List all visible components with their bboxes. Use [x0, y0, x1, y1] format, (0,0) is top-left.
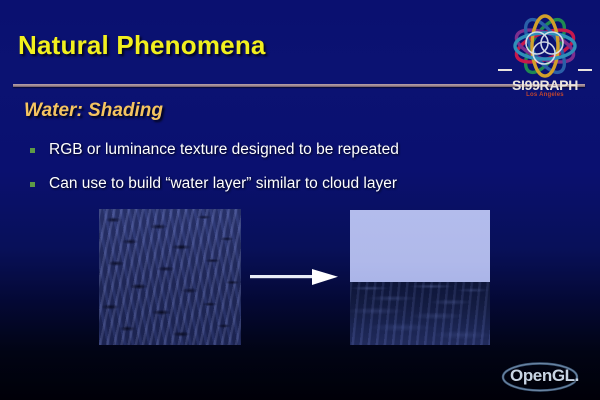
list-item-label: RGB or luminance texture designed to be …	[49, 140, 399, 160]
slide-canvas: Natural Phenomena Water: Shading RGB or …	[0, 0, 600, 400]
bullet-square-icon	[30, 182, 35, 187]
opengl-wordmark-text: OpenGL	[510, 366, 575, 385]
siggraph-logo: SI99RAPH Los Angeles	[496, 12, 594, 104]
list-item-label: Can use to build “water layer” similar t…	[49, 174, 397, 194]
scene-water	[350, 282, 490, 345]
opengl-wordmark: OpenGL.	[510, 366, 579, 386]
section-subtitle: Water: Shading	[24, 100, 163, 122]
list-item: RGB or luminance texture designed to be …	[30, 140, 560, 160]
bullet-list: RGB or luminance texture designed to be …	[30, 140, 560, 208]
opengl-dot: .	[575, 366, 579, 385]
opengl-logo: OpenGL.	[500, 360, 596, 394]
right-arrow-icon	[250, 268, 340, 286]
list-item: Can use to build “water layer” similar t…	[30, 174, 560, 194]
rendered-ocean-image	[350, 210, 490, 345]
siggraph-location: Los Angeles	[496, 92, 594, 98]
bullet-square-icon	[30, 148, 35, 153]
water-texture-image	[99, 209, 241, 345]
page-title: Natural Phenomena	[18, 30, 266, 61]
siggraph-wordmark: SI99RAPH	[496, 78, 594, 92]
scene-sky	[350, 210, 490, 283]
